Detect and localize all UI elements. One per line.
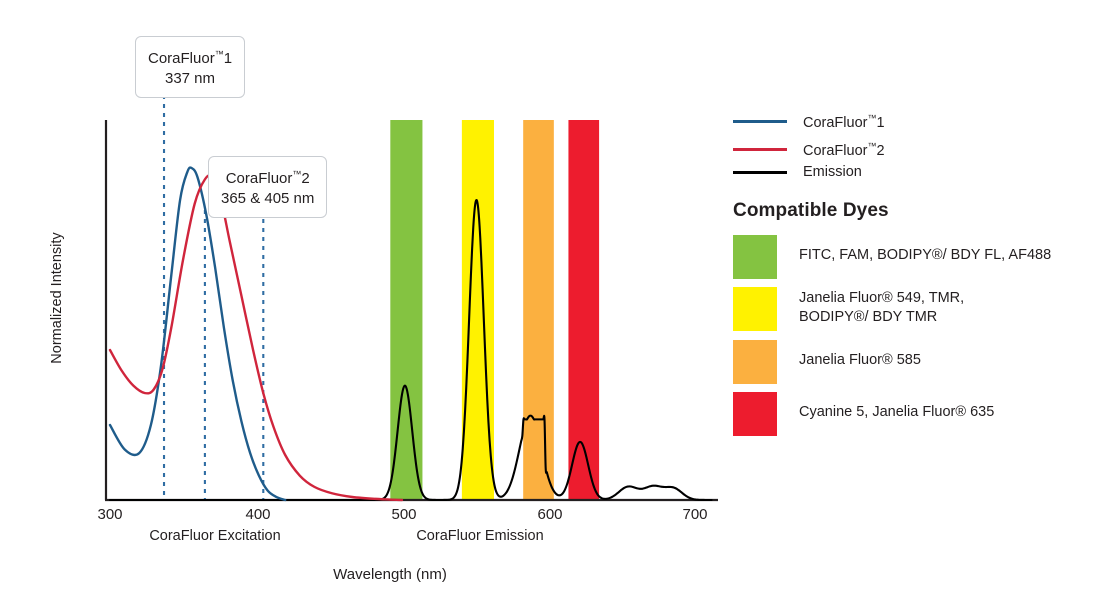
y-axis-title: Normalized Intensity: [49, 213, 65, 383]
dye-swatch-green: [733, 235, 777, 279]
callout-cf1-line2: 337 nm: [148, 69, 232, 89]
callout-cf1-line1: CoraFluor™1: [148, 50, 232, 67]
spectra-chart: CoraFluor™1 337 nm CoraFluor™2 365 & 405…: [0, 0, 730, 612]
corafluor2-curve: [110, 175, 402, 500]
legend-label-corafluor1: CoraFluor™1: [803, 113, 885, 131]
xtick-600: 600: [520, 506, 580, 523]
section-label-excitation: CoraFluor Excitation: [110, 528, 320, 544]
x-axis-title: Wavelength (nm): [270, 566, 510, 583]
legend-line-emission: [733, 171, 787, 174]
dye-row-yellow: Janelia Fluor® 549, TMR, BODIPY®/ BDY TM…: [733, 287, 964, 331]
legend-label-corafluor2: CoraFluor™2: [803, 141, 885, 159]
dye-swatch-red: [733, 392, 777, 436]
dye-label-yellow: Janelia Fluor® 549, TMR, BODIPY®/ BDY TM…: [799, 287, 964, 327]
dye-row-red: Cyanine 5, Janelia Fluor® 635: [733, 392, 994, 436]
chart-page: CoraFluor™1 337 nm CoraFluor™2 365 & 405…: [0, 0, 1110, 612]
dye-label-orange: Janelia Fluor® 585: [799, 340, 921, 370]
orange-band: [523, 120, 554, 500]
legend-label-emission: Emission: [803, 164, 862, 180]
legend-item-emission: Emission: [733, 164, 862, 180]
xtick-700: 700: [665, 506, 725, 523]
callout-cf2-line1: CoraFluor™2: [226, 170, 310, 187]
xtick-300: 300: [80, 506, 140, 523]
legend-line-corafluor2: [733, 148, 787, 151]
xtick-400: 400: [228, 506, 288, 523]
callout-cf2-line2: 365 & 405 nm: [221, 189, 314, 209]
callout-corafluor1: CoraFluor™1 337 nm: [135, 36, 245, 98]
dye-label-green: FITC, FAM, BODIPY®/ BDY FL, AF488: [799, 235, 1051, 265]
callout-corafluor2: CoraFluor™2 365 & 405 nm: [208, 156, 327, 218]
green-band: [390, 120, 422, 500]
legend-item-corafluor2: CoraFluor™2: [733, 141, 885, 159]
dye-row-green: FITC, FAM, BODIPY®/ BDY FL, AF488: [733, 235, 1051, 279]
dye-label-red: Cyanine 5, Janelia Fluor® 635: [799, 392, 994, 422]
dye-swatch-orange: [733, 340, 777, 384]
section-label-emission: CoraFluor Emission: [375, 528, 585, 544]
dye-swatch-yellow: [733, 287, 777, 331]
red-band: [568, 120, 599, 500]
compatible-dyes-title: Compatible Dyes: [733, 200, 889, 222]
legend-panel: CoraFluor™1 CoraFluor™2 Emission Compati…: [730, 0, 1110, 612]
legend-line-corafluor1: [733, 120, 787, 123]
dye-row-orange: Janelia Fluor® 585: [733, 340, 921, 384]
xtick-500: 500: [374, 506, 434, 523]
legend-item-corafluor1: CoraFluor™1: [733, 113, 885, 131]
